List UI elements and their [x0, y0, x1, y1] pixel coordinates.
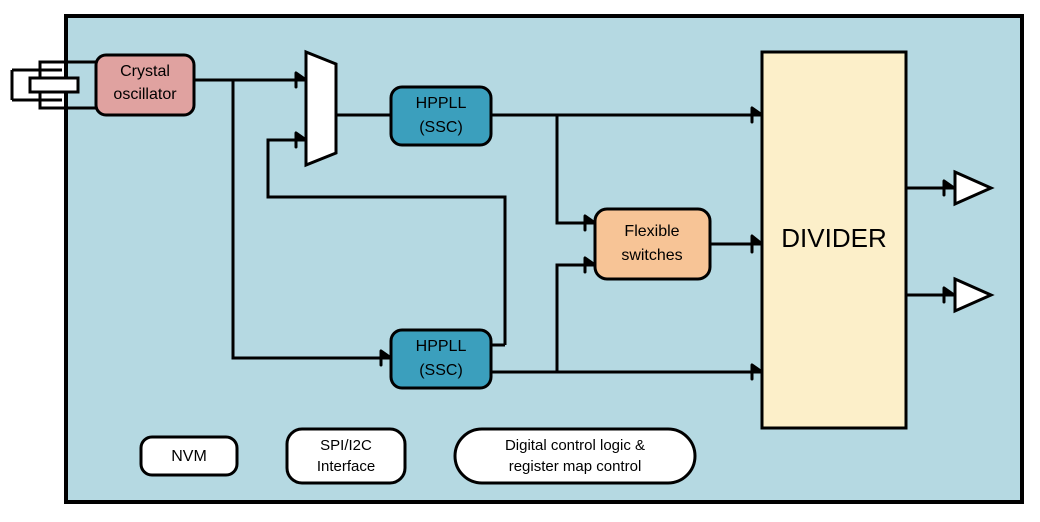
spi-i2c-interface-block[interactable]: SPI/I2C Interface — [287, 429, 405, 483]
flexible-switches-block[interactable]: Flexible switches — [595, 209, 710, 279]
block-diagram: Crystal oscillator HPPLL — [0, 0, 1040, 522]
crystal-oscillator-block[interactable]: Crystal oscillator — [96, 55, 194, 115]
flexible-switches-label-line2: switches — [621, 247, 682, 264]
flexible-switches-label-line1: Flexible — [624, 223, 679, 240]
crystal-oscillator-label-line1: Crystal — [120, 63, 170, 80]
hppll-bottom-label-line1: HPPLL — [416, 338, 467, 355]
digital-control-label-line1: Digital control logic & — [505, 437, 645, 454]
divider-label: DIVIDER — [781, 223, 886, 253]
hppll-top-label-line1: HPPLL — [416, 95, 467, 112]
hppll-top-block[interactable]: HPPLL (SSC) — [391, 87, 491, 145]
digital-control-label-line2: register map control — [509, 458, 642, 475]
crystal-oscillator-label-line2: oscillator — [113, 86, 177, 103]
digital-control-logic-block[interactable]: Digital control logic & register map con… — [455, 429, 695, 483]
spi-i2c-label-line1: SPI/I2C — [320, 437, 372, 454]
nvm-block[interactable]: NVM — [141, 437, 237, 475]
spi-i2c-label-line2: Interface — [317, 458, 375, 475]
hppll-bottom-label-line2: (SSC) — [419, 362, 463, 379]
input-mux-block[interactable] — [306, 52, 336, 165]
nvm-label: NVM — [171, 448, 207, 465]
block-diagram-canvas: Crystal oscillator HPPLL — [0, 0, 1040, 522]
hppll-top-label-line2: (SSC) — [419, 119, 463, 136]
hppll-bottom-block[interactable]: HPPLL (SSC) — [391, 330, 491, 388]
divider-block[interactable]: DIVIDER — [762, 52, 906, 428]
